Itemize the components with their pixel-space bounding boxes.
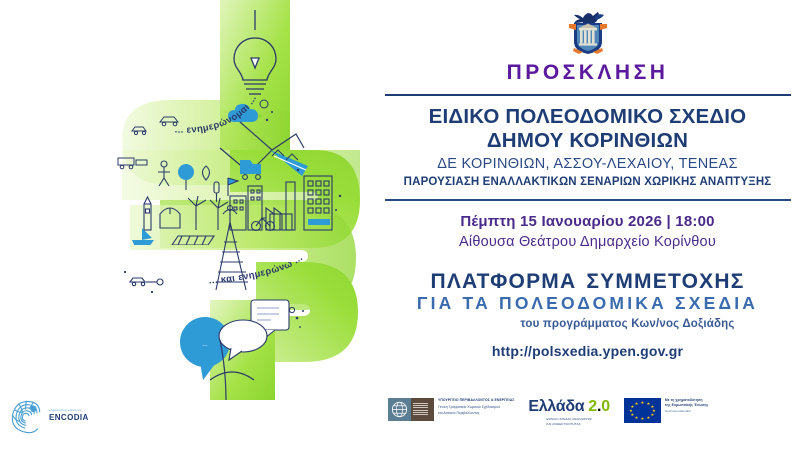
coat-of-arms-icon (565, 10, 611, 56)
ypen-text: ΥΠΟΥΡΓΕΙΟ ΠΕΡΙΒΑΛΛΟΝΤΟΣ & ΕΝΕΡΓΕΙΑΣ Γενι… (438, 398, 514, 416)
encodia-text: engineering solutions ENCODIA (49, 409, 89, 423)
ministry-mark (411, 398, 434, 421)
speech-bubble-text: ... (202, 341, 208, 348)
ellada-version: 2.0 (588, 398, 610, 416)
plan-title-line2: ΔΗΜΟΥ ΚΟΡΙΝΘΙΩΝ (375, 129, 800, 153)
ypen-marks (388, 398, 434, 421)
encodia-logo: engineering solutions ENCODIA (10, 398, 89, 434)
ellada-sub1: ΕΘΝΙΚΟ ΣΧΕΔΙΟ ΑΝΑΚΑΜΨΗΣ (546, 417, 592, 422)
invitation-heading: ΠΡΟΣΚΛΗΣΗ (375, 62, 800, 83)
platform-word-platform: ΠΛΑΤΦΟΡΜΑ (430, 270, 576, 293)
platform-title-line2: ΓΙΑ ΤΑ ΠΟΛΕΟΔΟΜΙΚΑ ΣΧΕΔΙΑ (375, 294, 800, 312)
event-datetime: Πέμπτη 15 Ιανουαρίου 2026 | 18:00 (375, 213, 800, 230)
platform-program: του προγράμματος Κων/νος Δοξιάδης (375, 318, 800, 330)
ellada-version-0: 0 (601, 398, 610, 415)
plan-title: ΕΙΔΙΚΟ ΠΟΛΕΟΔΟΜΙΚΟ ΣΧΕΔΙΟ ΔΗΜΟΥ ΚΟΡΙΝΘΙΩ… (375, 105, 800, 153)
globe-icon (388, 398, 411, 421)
ellada-word: Ελλάδα (528, 398, 584, 416)
road-elements (124, 271, 163, 293)
ellada-2-0-logo: Ελλάδα 2.0 ΕΘΝΙΚΟ ΣΧΕΔΙΟ ΑΝΑΚΑΜΨΗΣ ΚΑΙ Α… (528, 398, 610, 426)
divider-bottom (385, 199, 791, 201)
ellada-version-2: 2 (588, 398, 597, 415)
eu-line3: NextGenerationEU (665, 409, 708, 414)
plan-title-line1: ΕΙΔΙΚΟ ΠΟΛΕΟΔΟΜΙΚΟ ΣΧΕΔΙΟ (375, 105, 800, 129)
divider-top (385, 94, 791, 96)
plan-subtitle: ΔΕ ΚΟΡΙΝΘΙΩΝ, ΑΣΣΟΥ-ΛΕΧΑΙΟΥ, ΤΕΝΕΑΣ (375, 156, 800, 172)
corinth-crest (375, 8, 800, 58)
city-journey-illustration: ... ενημερώνομαι ... (60, 0, 390, 400)
ellada-wordmark: Ελλάδα 2.0 (528, 398, 610, 416)
ellada-subtitle: ΕΘΝΙΚΟ ΣΧΕΔΙΟ ΑΝΑΚΑΜΨΗΣ ΚΑΙ ΑΝΘΕΚΤΙΚΟΤΗΤ… (546, 417, 592, 426)
invitation-poster: ... ενημερώνομαι ... (0, 0, 800, 460)
globe-glyph (391, 401, 408, 418)
ypen-header: ΥΠΟΥΡΓΕΙΟ ΠΕΡΙΒΑΛΛΟΝΤΟΣ & ΕΝΕΡΓΕΙΑΣ (438, 398, 514, 403)
footer-logo-strip: ΥΠΟΥΡΓΕΙΟ ΠΕΡΙΒΑΛΛΟΝΤΟΣ & ΕΝΕΡΓΕΙΑΣ Γενι… (388, 398, 800, 438)
event-venue: Αίθουσα Θεάτρου Δημαρχείο Κορίνθου (375, 234, 800, 250)
ellada-sub2: ΚΑΙ ΑΝΘΕΚΤΙΚΟΤΗΤΑΣ (546, 422, 592, 427)
platform-word-participation: ΣΥΜΜΕΤΟΧΗΣ (586, 270, 744, 293)
poster-content: ΠΡΟΣΚΛΗΣΗ ΕΙΔΙΚΟ ΠΟΛΕΟΔΟΜΙΚΟ ΣΧΕΔΙΟ ΔΗΜΟ… (375, 0, 800, 400)
platform-title-line1: ΠΛΑΤΦΟΡΜΑΣΥΜΜΕΤΟΧΗΣ (375, 271, 800, 293)
nautilus-spiral-icon (10, 398, 46, 434)
ypen-line2: και Αστικού Περιβάλλοντος (438, 411, 514, 416)
ministry-mark-lines (413, 403, 432, 416)
ypen-logo: ΥΠΟΥΡΓΕΙΟ ΠΕΡΙΒΑΛΛΟΝΤΟΣ & ΕΝΕΡΓΕΙΑΣ Γενι… (388, 398, 514, 421)
eu-funding-logo: ★ ★ ★ ★ ★ ★ ★ ★ ★ ★ ★ ★ Με τη χρηματοδότ… (624, 398, 708, 423)
encodia-name: ENCODIA (49, 413, 89, 423)
eu-flag-icon: ★ ★ ★ ★ ★ ★ ★ ★ ★ ★ ★ ★ (624, 398, 661, 423)
eu-funding-text: Με τη χρηματοδότηση της Ευρωπαϊκής Ένωση… (665, 398, 708, 413)
plan-scenario-line: ΠΑΡΟΥΣΙΑΣΗ ΕΝΑΛΛΑΚΤΙΚΩΝ ΣΕΝΑΡΙΩΝ ΧΩΡΙΚΗΣ… (375, 176, 800, 188)
platform-url-link[interactable]: http://polsxedia.ypen.gov.gr (492, 343, 683, 359)
